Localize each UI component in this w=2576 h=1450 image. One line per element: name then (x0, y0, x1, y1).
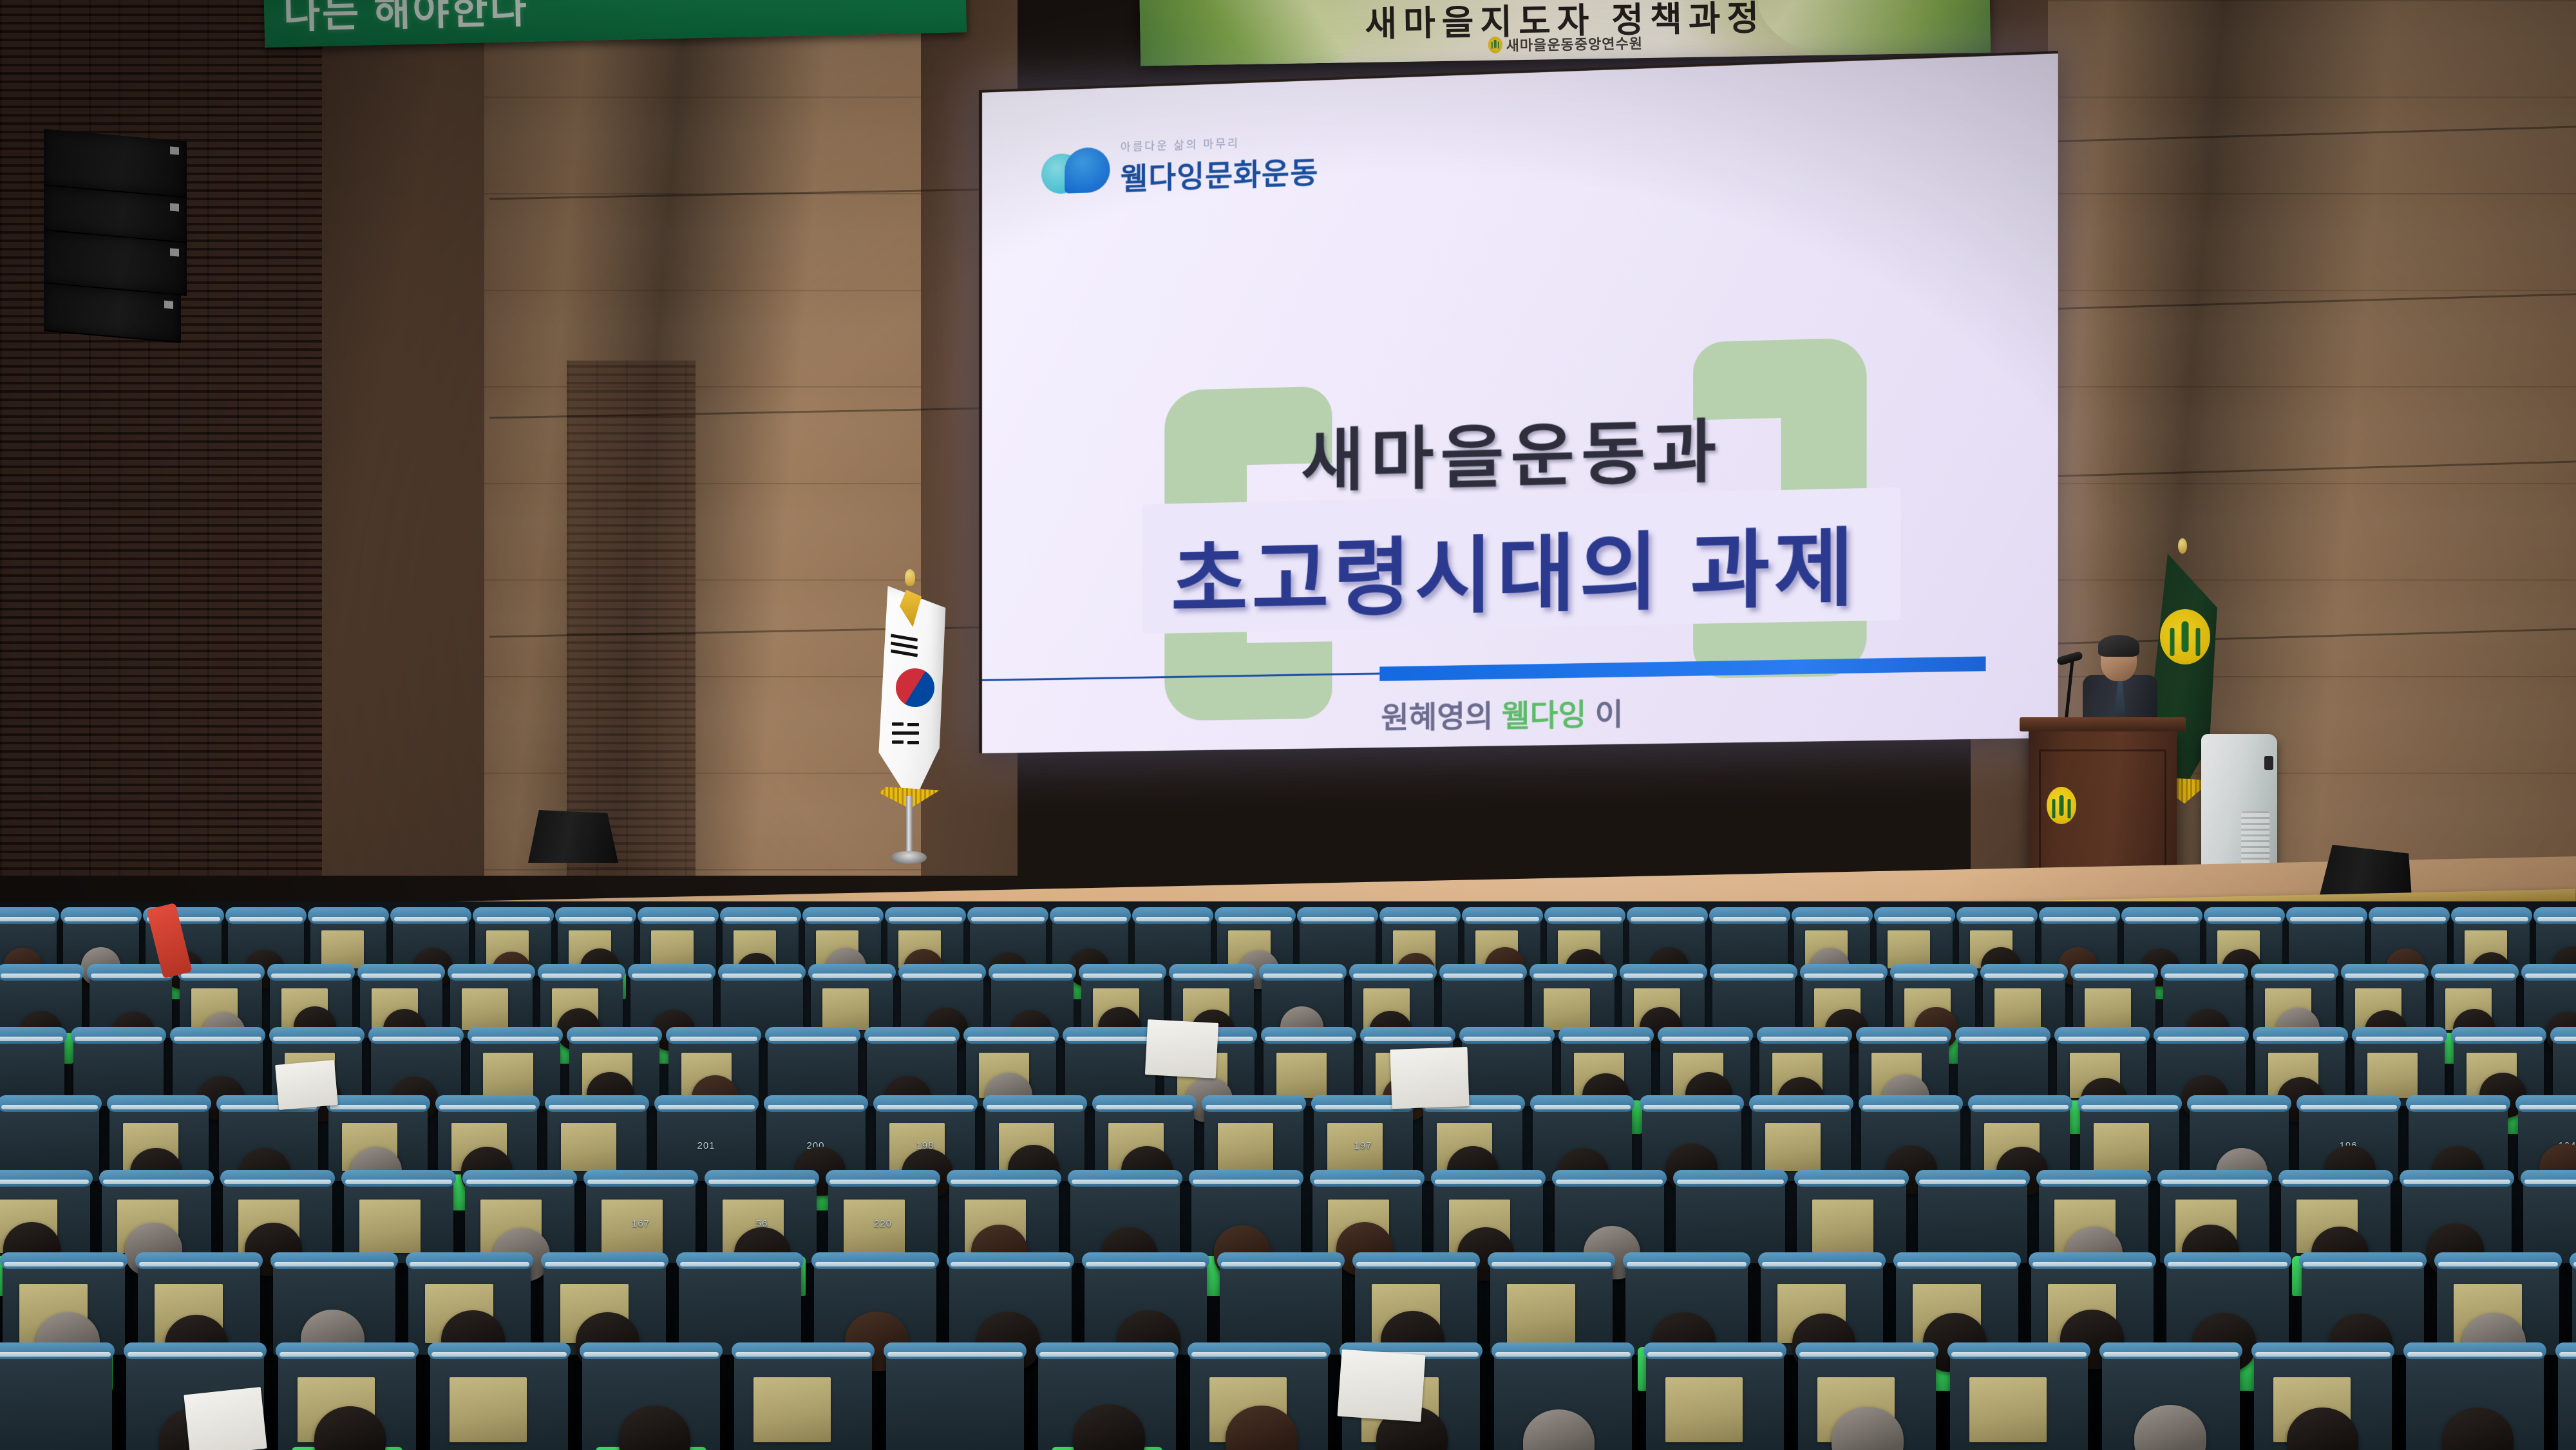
seat-headrest (628, 964, 715, 981)
seat-headrest (390, 907, 471, 924)
seat-headrest (1530, 1095, 1634, 1112)
footer-highlight: 웰다잉 (1502, 697, 1587, 733)
seat-headrest (2406, 1095, 2510, 1112)
seat-headrest (71, 1027, 166, 1044)
seat-handout (1888, 930, 1930, 969)
seat-headrest (2555, 1342, 2576, 1359)
seat-headrest (989, 964, 1076, 981)
seat-headrest (538, 964, 625, 981)
auditorium-seat (1220, 1259, 1342, 1355)
seat-headrest (2121, 907, 2202, 924)
seat-headrest (1658, 1027, 1753, 1044)
seat-headrest (1800, 964, 1888, 981)
footer-suffix: 이 (1586, 697, 1623, 731)
seat-headrest (462, 1170, 577, 1187)
seat-headrest (267, 964, 355, 981)
seat-headrest (2550, 1027, 2576, 1044)
seat-headrest (357, 964, 445, 981)
seat-headrest (1552, 1170, 1667, 1187)
seat-headrest (99, 1170, 214, 1187)
audience-seating: 20120019819719619416756220 (0, 901, 2576, 1450)
seat-headrest (864, 1027, 960, 1044)
auditorium-seat (679, 1259, 801, 1355)
seat-headrest (1623, 1252, 1750, 1269)
seat-headrest (947, 1170, 1061, 1187)
seat-headrest (1189, 1170, 1303, 1187)
seat-headrest (1488, 1252, 1615, 1269)
seat-headrest (1063, 1027, 1158, 1044)
auditorium-seat (1646, 1350, 1784, 1450)
auditorium-seat (430, 1350, 568, 1450)
seat-headrest (718, 964, 806, 981)
stage-monitor-left (528, 810, 618, 863)
flag-finial-icon (905, 569, 915, 586)
projection-screen: 아름다운 삶의 마무리 웰다잉문화운동 새마을운동과 초고령시대의 과제 원혜영… (979, 51, 2058, 753)
auditorium-seat: 220 (828, 1177, 938, 1263)
seat-headrest (1492, 1342, 1634, 1359)
podium-saemaul-emblem-icon (2047, 787, 2076, 824)
seat-handout (1969, 1377, 2047, 1443)
seat-headrest (638, 907, 719, 924)
seat-headrest (0, 964, 84, 981)
seat-headrest (1893, 1252, 2021, 1269)
seat-headrest (580, 1342, 723, 1359)
seat-handout (359, 1200, 421, 1253)
seat-headrest (135, 1252, 263, 1269)
auditorium-seat (1797, 1177, 1906, 1263)
seat-headrest (341, 1170, 456, 1187)
seat-headrest (220, 1170, 335, 1187)
seat-number: 197 (1314, 1140, 1413, 1151)
auditorium-seat: 201 (657, 1102, 756, 1181)
audience-handout-paper (184, 1387, 267, 1450)
seat-headrest (1036, 1342, 1179, 1359)
seat-headrest (1050, 907, 1131, 924)
seat-headrest (2299, 1252, 2427, 1269)
seat-headrest (2515, 1095, 2576, 1112)
seat-headrest (1360, 1027, 1455, 1044)
seat-headrest (0, 1170, 93, 1187)
seat-headrest (1188, 1342, 1331, 1359)
seat-headrest (764, 1095, 868, 1112)
seat-handout (1507, 1284, 1575, 1343)
audience-handout-paper (275, 1060, 338, 1110)
seat-headrest (1968, 1095, 2072, 1112)
seat-headrest (826, 1170, 940, 1187)
seat-headrest (1874, 907, 1955, 924)
seat-headrest (2403, 1342, 2546, 1359)
seat-headrest (2187, 1095, 2291, 1112)
seat-headrest (1956, 907, 2038, 924)
seat-handout (321, 930, 364, 969)
seat-handout (1994, 988, 2041, 1030)
seat-handout (1276, 1053, 1327, 1097)
seat-headrest (1792, 907, 1873, 924)
flag-base (891, 851, 927, 864)
seat-headrest (765, 1027, 860, 1044)
seat-number: 201 (657, 1140, 756, 1151)
seat-handout (1218, 1123, 1273, 1172)
auditorium-seat (0, 1102, 99, 1181)
seat-headrest (1709, 907, 1790, 924)
seat-headrest (2161, 964, 2248, 981)
seat-headrest (1856, 1027, 1951, 1044)
seat-headrest (567, 1027, 662, 1044)
auditorium-seat (1950, 1350, 2088, 1450)
auditorium-seat (886, 1350, 1024, 1450)
seat-headrest (1620, 964, 1707, 981)
seat-headrest (1915, 1170, 2030, 1187)
seat-handout (1544, 988, 1590, 1030)
seat-headrest (1795, 1342, 1938, 1359)
seat-headrest (1627, 907, 1708, 924)
seat-headrest (0, 1095, 102, 1112)
seat-headrest (1544, 907, 1625, 924)
auditorium-seat (344, 1177, 453, 1263)
seat-headrest (468, 1027, 563, 1044)
seat-handout (2085, 988, 2131, 1030)
seat-headrest (406, 1252, 533, 1269)
seat-headrest (428, 1342, 571, 1359)
seat-headrest (2078, 1095, 2182, 1112)
speech-bubble-icon (1041, 146, 1110, 201)
seat-headrest (107, 1095, 211, 1112)
event-banner: 「함께 새마을, 미래로, 세계로」 새마을지도자 정책과정 새마을운동중앙연수… (1139, 0, 1991, 66)
flag-pole (906, 796, 913, 855)
footer-prefix: 원혜영의 (1381, 699, 1501, 735)
seat-headrest (2099, 1342, 2242, 1359)
seat-headrest (1310, 1170, 1425, 1187)
seat-headrest (1082, 1252, 1209, 1269)
seat-handout (1765, 1123, 1821, 1172)
seat-headrest (225, 907, 307, 924)
seat-headrest (654, 1095, 759, 1112)
seat-handout (753, 1377, 831, 1443)
seat-headrest (2154, 1027, 2249, 1044)
seat-headrest (2431, 964, 2519, 981)
green-banner-text: 나는 해야한다 (283, 0, 529, 39)
seat-headrest (2253, 1027, 2348, 1044)
seat-headrest (705, 1170, 819, 1187)
seat-headrest (1259, 964, 1347, 981)
auditorium-seat (2572, 1259, 2576, 1355)
seat-headrest (1947, 1342, 2090, 1359)
audience-handout-paper (1145, 1019, 1218, 1078)
seat-handout (1665, 1377, 1743, 1443)
line-array-speaker (44, 129, 187, 360)
brick-wall-accent (567, 361, 696, 876)
seat-headrest (1529, 964, 1617, 981)
seat-headrest (2278, 1170, 2393, 1187)
seat-headrest (1859, 1095, 1963, 1112)
seat-headrest (1352, 1252, 1480, 1269)
seat-headrest (2164, 1252, 2291, 1269)
seat-handout (483, 1053, 533, 1097)
seat-headrest (583, 1170, 698, 1187)
seat-headrest (2251, 964, 2338, 981)
seat-headrest (2029, 1252, 2156, 1269)
seat-headrest (873, 1095, 978, 1112)
seat-headrest (0, 1252, 128, 1269)
seat-headrest (0, 1342, 115, 1359)
banner-org-label: 새마을운동중앙연수원 (1506, 35, 1643, 53)
seat-headrest (0, 907, 59, 924)
seat-headrest (2521, 1170, 2576, 1187)
auditorium-seat (1490, 1259, 1613, 1355)
seat-headrest (1132, 907, 1213, 924)
seat-headrest (2054, 1027, 2150, 1044)
seat-headrest (270, 1252, 398, 1269)
seat-headrest (1079, 964, 1166, 981)
seat-headrest (1558, 1027, 1654, 1044)
seat-headrest (666, 1027, 761, 1044)
seat-headrest (2369, 907, 2450, 924)
auditorium-seat (0, 1350, 112, 1450)
seat-headrest (802, 907, 884, 924)
seat-headrest (2070, 964, 2158, 981)
auditorium-seat: 167 (586, 1177, 696, 1263)
seat-headrest (545, 1095, 649, 1112)
seat-headrest (1758, 1252, 1886, 1269)
auditorium-seat (1918, 1177, 2027, 1263)
seat-headrest (1462, 907, 1543, 924)
seat-handout (822, 988, 869, 1030)
seat-headrest (555, 907, 636, 924)
seat-headrest (368, 1027, 464, 1044)
seat-headrest (2341, 964, 2429, 981)
auditorium-seat (2080, 1102, 2179, 1181)
seat-handout (1812, 1200, 1873, 1253)
seat-headrest (435, 1095, 540, 1112)
slide-title-line2: 초고령시대의 과제 (982, 495, 2058, 638)
seat-headrest (2286, 907, 2367, 924)
seat-headrest (2521, 964, 2576, 981)
seat-headrest (0, 1027, 67, 1044)
seat-headrest (2251, 1342, 2394, 1359)
auditorium-seat (2558, 1350, 2576, 1450)
seat-headrest (1955, 1027, 2050, 1044)
seat-headrest (1297, 907, 1378, 924)
seat-headrest (2533, 907, 2576, 924)
seat-headrest (885, 907, 966, 924)
seat-headrest (448, 964, 535, 981)
seat-headrest (2297, 1095, 2401, 1112)
seat-handout (2094, 1123, 2149, 1172)
seat-number: 220 (828, 1218, 938, 1229)
seat-headrest (2451, 1027, 2546, 1044)
wall-dark-strip-left (322, 0, 489, 876)
seat-headrest (1980, 964, 2068, 981)
korean-flag (873, 586, 949, 805)
seat-headrest (1890, 964, 1978, 981)
seat-headrest (473, 907, 554, 924)
auditorium-seat (2523, 1177, 2576, 1263)
seat-headrest (1749, 1095, 1853, 1112)
saemaul-emblem-icon (2160, 609, 2210, 664)
seat-headrest (326, 1095, 430, 1112)
auditorium-seat (734, 1350, 872, 1450)
seat-headrest (2157, 1170, 2272, 1187)
seat-headrest (808, 964, 896, 981)
seat-headrest (1068, 1170, 1182, 1187)
seat-headrest (1379, 907, 1461, 924)
slide-footer-text: 원혜영의 웰다잉 이 (1381, 690, 1623, 737)
seat-headrest (269, 1027, 365, 1044)
seat-headrest (1459, 1027, 1555, 1044)
seat-headrest (963, 1027, 1059, 1044)
seat-handout (651, 930, 694, 969)
auditorium-seat (1204, 1102, 1303, 1181)
seat-number: 167 (586, 1218, 696, 1229)
seat-headrest (2352, 1027, 2447, 1044)
seat-headrest (2451, 907, 2532, 924)
seat-headrest (967, 907, 1048, 924)
auditorium-seat (1676, 1177, 1785, 1263)
logo-name: 웰다잉문화운동 (1121, 149, 1319, 198)
seat-headrest (720, 907, 801, 924)
seat-headrest (1202, 1095, 1306, 1112)
seat-headrest (61, 907, 142, 924)
seat-headrest (884, 1342, 1027, 1359)
seat-headrest (2434, 1252, 2562, 1269)
seat-headrest (1673, 1170, 1788, 1187)
seat-headrest (1431, 1170, 1546, 1187)
seat-headrest (983, 1095, 1087, 1112)
seat-headrest (1710, 964, 1797, 981)
auditorium-scene: 나는 해야한다 「함께 새마을, 미래로, 세계로」 새마을지도자 정책과정 새… (0, 0, 2576, 1450)
seat-headrest (1794, 1170, 1909, 1187)
seat-headrest (1169, 964, 1256, 981)
seat-headrest (2204, 907, 2285, 924)
seat-headrest (541, 1252, 668, 1269)
seat-headrest (1640, 1095, 1744, 1112)
seat-headrest (276, 1342, 419, 1359)
seat-headrest (1439, 964, 1527, 981)
seat-headrest (732, 1342, 875, 1359)
seat-headrest (1349, 964, 1437, 981)
welldying-logo: 아름다운 삶의 마무리 웰다잉문화운동 (1041, 131, 1318, 201)
seat-headrest (1757, 1027, 1852, 1044)
seat-headrest (124, 1342, 267, 1359)
auditorium-seat: 197 (1314, 1102, 1413, 1181)
seat-headrest (1217, 1252, 1345, 1269)
seat-headrest (1261, 1027, 1356, 1044)
audience-handout-paper (1338, 1350, 1426, 1422)
seat-headrest (308, 907, 389, 924)
sprout-emblem-icon (1488, 37, 1502, 53)
audience-handout-paper (1390, 1047, 1469, 1109)
seat-headrest (676, 1252, 804, 1269)
seat-headrest (811, 1252, 939, 1269)
seat-headrest (2400, 1170, 2514, 1187)
seat-handout (2367, 1053, 2418, 1097)
seat-headrest (898, 964, 986, 981)
seat-headrest (2039, 907, 2120, 924)
seat-handout (561, 1123, 616, 1172)
seat-headrest (1643, 1342, 1786, 1359)
seat-headrest (170, 1027, 265, 1044)
seat-headrest (947, 1252, 1074, 1269)
seat-headrest (1215, 907, 1296, 924)
seat-handout (462, 988, 508, 1030)
seat-handout (450, 1377, 527, 1443)
seat-headrest (2036, 1170, 2151, 1187)
auditorium-seat (1752, 1102, 1851, 1181)
auditorium-seat (547, 1102, 647, 1181)
flag-finial-icon (2178, 538, 2187, 554)
seat-headrest (1092, 1095, 1197, 1112)
